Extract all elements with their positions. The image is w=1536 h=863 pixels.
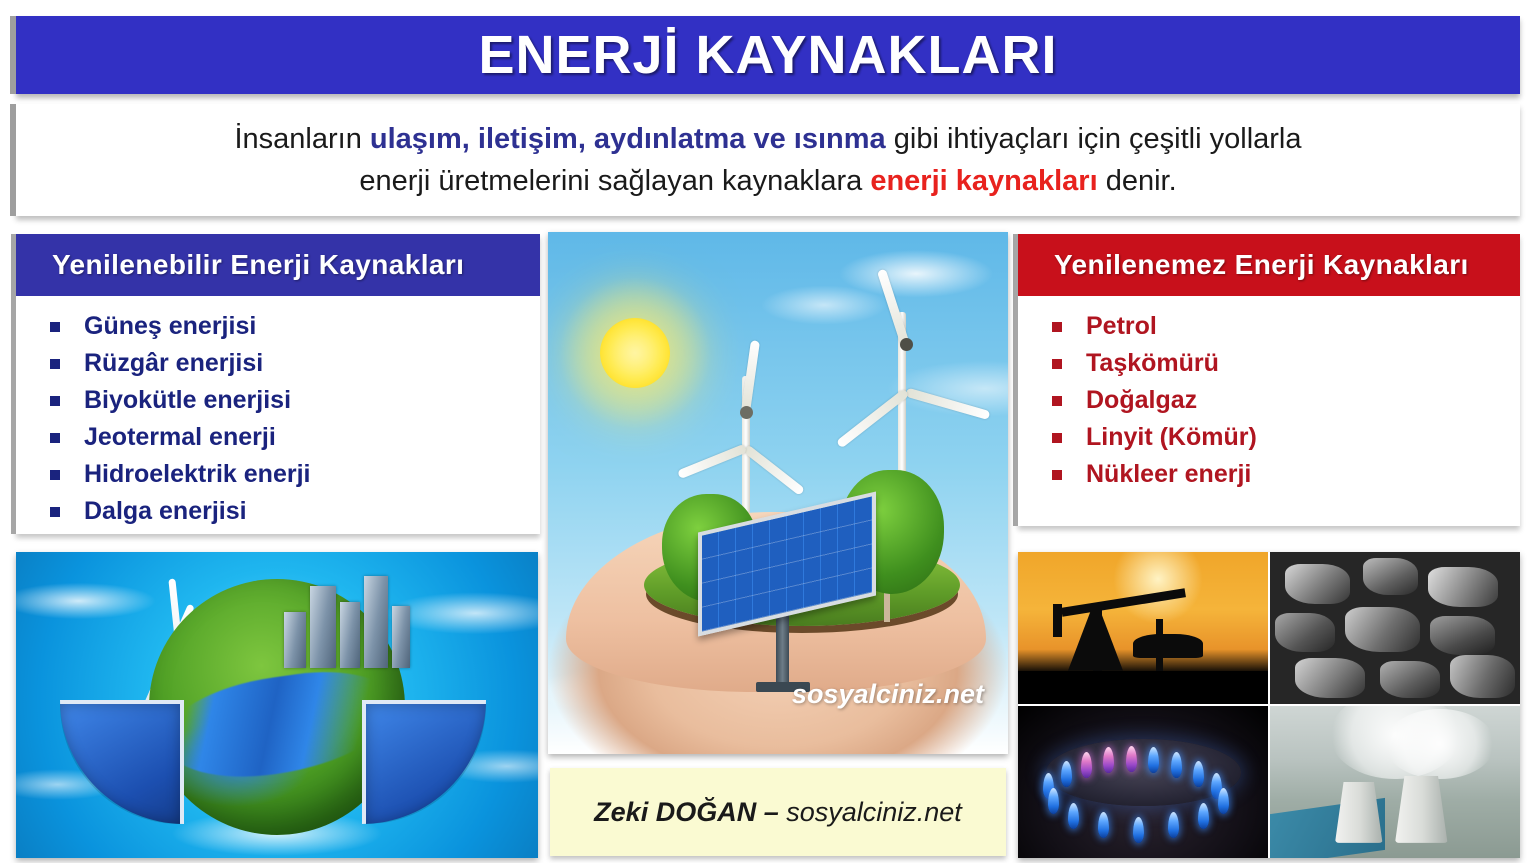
definition-line-2: enerji üretmelerini sağlayan kaynaklara … (359, 160, 1176, 202)
page-title-bar: ENERJİ KAYNAKLARI (16, 16, 1520, 94)
turbine-hub (740, 406, 753, 419)
list-item[interactable]: Hidroelektrik enerji (50, 456, 540, 493)
coal-chunk (1428, 567, 1498, 607)
ground-silhouette (1018, 671, 1268, 704)
renewable-energy-hand-image: sosyalciniz.net (548, 232, 1008, 754)
square-bullet-icon (50, 433, 60, 443)
flame (1098, 812, 1109, 838)
square-bullet-icon (50, 322, 60, 332)
turbine-hub (900, 338, 913, 351)
square-bullet-icon (50, 470, 60, 480)
definition-line1-suffix: gibi ihtiyaçları için çeşitli yollarla (886, 123, 1302, 155)
flame (1193, 761, 1204, 787)
list-item-label: Doğalgaz (1086, 388, 1197, 413)
list-item-label: Güneş enerjisi (84, 314, 256, 339)
pumpjack-counterweight (1053, 604, 1062, 637)
coal-chunk (1450, 655, 1515, 698)
author-credit: Zeki DOĞAN – sosyalciniz.net (594, 797, 962, 828)
definition-line1-prefix: İnsanların (234, 123, 369, 155)
flame (1126, 746, 1137, 772)
flame (1133, 817, 1144, 843)
nonrenewable-panel-header: Yenilenemez Enerji Kaynakları (1018, 234, 1520, 296)
building (340, 602, 360, 668)
author-name: Zeki DOĞAN (594, 797, 756, 827)
definition-line2-prefix: enerji üretmelerini sağlayan kaynaklara (359, 165, 870, 197)
coal-chunks-photo (1270, 552, 1520, 704)
nonrenewable-energy-list: Petrol Taşkömürü Doğalgaz Linyit (Kömür)… (1018, 296, 1520, 493)
flame (1081, 752, 1092, 778)
list-item-label: Biyokütle enerjisi (84, 388, 291, 413)
renewable-panel-title: Yenilenebilir Enerji Kaynakları (52, 249, 464, 281)
list-item-label: Linyit (Kömür) (1086, 425, 1257, 450)
square-bullet-icon (1052, 433, 1062, 443)
page-title: ENERJİ KAYNAKLARI (478, 24, 1057, 86)
pumpjack-frame (1068, 610, 1123, 671)
author-credit-box: Zeki DOĞAN – sosyalciniz.net (550, 768, 1006, 856)
list-item-label: Hidroelektrik enerji (84, 462, 310, 487)
list-item-label: Rüzgâr enerjisi (84, 351, 263, 376)
flame (1148, 747, 1159, 773)
steam-plume (1385, 709, 1495, 779)
solar-panel-pole (776, 610, 789, 684)
flame (1171, 752, 1182, 778)
turbine-blade (905, 388, 990, 420)
definition-highlight-blue: ulaşım, iletişim, aydınlatma ve ısınma (370, 123, 886, 155)
building (284, 612, 306, 668)
image-watermark: sosyalciniz.net (792, 679, 984, 710)
wellhead (1133, 634, 1203, 658)
coal-chunk (1380, 661, 1440, 697)
coal-chunk (1345, 607, 1420, 653)
list-item[interactable]: Rüzgâr enerjisi (50, 345, 540, 382)
list-item-label: Taşkömürü (1086, 351, 1219, 376)
list-item-label: Dalga enerjisi (84, 499, 247, 524)
list-item[interactable]: Dalga enerjisi (50, 493, 540, 530)
square-bullet-icon (1052, 396, 1062, 406)
nonrenewable-energy-panel: Yenilenemez Enerji Kaynakları Petrol Taş… (1018, 234, 1520, 526)
list-item-label: Jeotermal enerji (84, 425, 276, 450)
coal-chunk (1295, 658, 1365, 698)
flame (1198, 803, 1209, 829)
definition-box: İnsanların ulaşım, iletişim, aydınlatma … (16, 104, 1520, 216)
sunset-glow (1113, 552, 1203, 624)
renewable-energy-list: Güneş enerjisi Rüzgâr enerjisi Biyokütle… (16, 296, 540, 530)
flame (1068, 803, 1079, 829)
square-bullet-icon (50, 359, 60, 369)
nonrenewable-photo-grid (1018, 552, 1520, 858)
definition-line-1: İnsanların ulaşım, iletişim, aydınlatma … (234, 118, 1301, 160)
list-item[interactable]: Güneş enerjisi (50, 308, 540, 345)
flame (1061, 761, 1072, 787)
building (310, 586, 336, 668)
sun-icon (600, 318, 670, 388)
square-bullet-icon (1052, 359, 1062, 369)
nonrenewable-panel-title: Yenilenemez Enerji Kaynakları (1054, 249, 1469, 281)
green-earth-image (16, 552, 538, 858)
city-skyline (278, 568, 414, 668)
coal-chunk (1363, 558, 1418, 594)
list-item[interactable]: Taşkömürü (1052, 345, 1520, 382)
square-bullet-icon (1052, 470, 1062, 480)
cooling-tower (1395, 776, 1448, 843)
coal-chunk (1430, 616, 1495, 656)
natural-gas-flame-photo (1018, 706, 1268, 858)
renewable-panel-header: Yenilenebilir Enerji Kaynakları (16, 234, 540, 296)
list-item[interactable]: Linyit (Kömür) (1052, 419, 1520, 456)
credit-separator: – (756, 797, 786, 827)
cooling-tower (1335, 782, 1383, 843)
square-bullet-icon (50, 507, 60, 517)
building (392, 606, 410, 668)
list-item[interactable]: Jeotermal enerji (50, 419, 540, 456)
square-bullet-icon (1052, 322, 1062, 332)
gas-burner-ring (1046, 739, 1241, 806)
flame (1168, 812, 1179, 838)
list-item[interactable]: Doğalgaz (1052, 382, 1520, 419)
oil-pumpjack-photo (1018, 552, 1268, 704)
building (364, 576, 388, 668)
credit-site: sosyalciniz.net (786, 797, 962, 827)
flame (1103, 747, 1114, 773)
square-bullet-icon (50, 396, 60, 406)
definition-highlight-red: enerji kaynakları (870, 165, 1097, 197)
list-item[interactable]: Nükleer enerji (1052, 456, 1520, 493)
definition-line2-suffix: denir. (1098, 165, 1177, 197)
slide-root: ENERJİ KAYNAKLARI İnsanların ulaşım, ile… (0, 0, 1536, 863)
nuclear-power-plant-photo (1270, 706, 1520, 858)
coal-chunk (1275, 613, 1335, 653)
list-item[interactable]: Biyokütle enerjisi (50, 382, 540, 419)
list-item-label: Nükleer enerji (1086, 462, 1251, 487)
list-item-label: Petrol (1086, 314, 1157, 339)
coal-chunk (1285, 564, 1350, 604)
flame (1218, 788, 1229, 814)
flame (1048, 788, 1059, 814)
renewable-energy-panel: Yenilenebilir Enerji Kaynakları Güneş en… (16, 234, 540, 534)
list-item[interactable]: Petrol (1052, 308, 1520, 345)
